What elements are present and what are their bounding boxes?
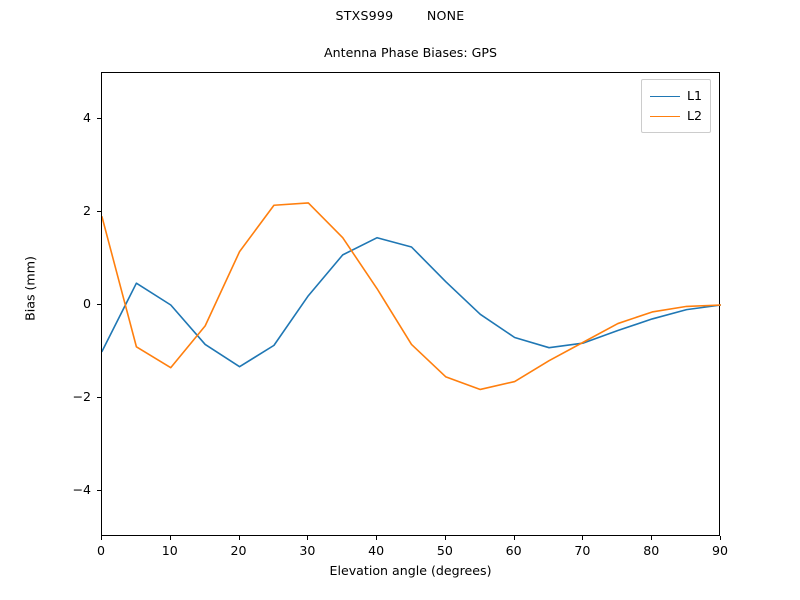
y-axis-label: Bias (mm): [23, 199, 38, 379]
chart-title: Antenna Phase Biases: GPS: [101, 45, 720, 60]
x-tick-label-10: 10: [140, 543, 200, 558]
matplotlib-figure: STXS999 NONE Antenna Phase Biases: GPS L…: [0, 0, 800, 600]
x-tick-label-50: 50: [415, 543, 475, 558]
legend-label-l1: L1: [687, 90, 702, 103]
y-tick-label--2: −2: [25, 389, 91, 404]
x-tick-10: [170, 536, 171, 540]
y-tick-label--4: −4: [25, 482, 91, 497]
x-tick-label-0: 0: [71, 543, 131, 558]
legend-swatch-l2: [650, 116, 680, 117]
y-tick--4: [97, 490, 101, 491]
y-tick-4: [97, 118, 101, 119]
x-tick-label-80: 80: [621, 543, 681, 558]
legend: L1 L2: [641, 79, 711, 133]
x-tick-90: [720, 536, 721, 540]
y-tick--2: [97, 397, 101, 398]
y-tick-2: [97, 211, 101, 212]
legend-item-l1[interactable]: L1: [650, 86, 702, 106]
x-tick-label-70: 70: [552, 543, 612, 558]
x-tick-50: [445, 536, 446, 540]
x-tick-20: [239, 536, 240, 540]
plot-lines-svg: [102, 73, 721, 537]
legend-item-l2[interactable]: L2: [650, 106, 702, 126]
data-series-group: [102, 203, 721, 390]
x-tick-40: [376, 536, 377, 540]
plot-area: L1 L2: [101, 72, 720, 536]
x-tick-label-40: 40: [346, 543, 406, 558]
x-tick-0: [101, 536, 102, 540]
x-tick-label-30: 30: [277, 543, 337, 558]
series-line-l2: [102, 203, 721, 390]
x-tick-80: [651, 536, 652, 540]
series-line-l1: [102, 238, 721, 367]
figure-suptitle: STXS999 NONE: [0, 8, 800, 23]
x-tick-label-60: 60: [484, 543, 544, 558]
x-tick-label-20: 20: [209, 543, 269, 558]
x-tick-60: [514, 536, 515, 540]
x-tick-label-90: 90: [690, 543, 750, 558]
y-tick-0: [97, 304, 101, 305]
x-tick-30: [307, 536, 308, 540]
y-tick-label-4: 4: [25, 110, 91, 125]
x-axis-label: Elevation angle (degrees): [101, 563, 720, 578]
x-tick-70: [582, 536, 583, 540]
legend-label-l2: L2: [687, 110, 702, 123]
legend-swatch-l1: [650, 96, 680, 97]
